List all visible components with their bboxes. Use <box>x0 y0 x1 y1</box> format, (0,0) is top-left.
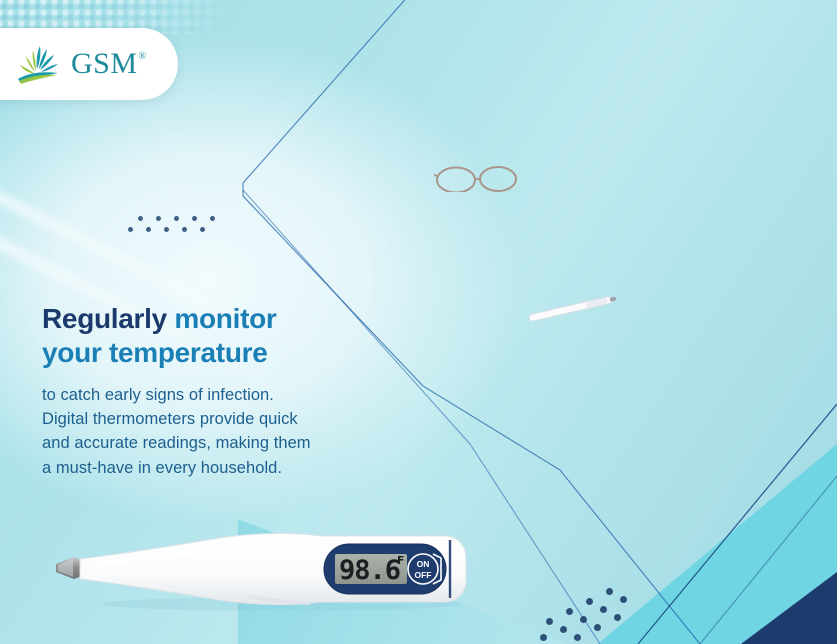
body-copy: to catch early signs of infection. Digit… <box>42 383 472 479</box>
thermometer-unit: F <box>397 554 405 567</box>
banner-canvas: GSM® Regularly monitoryour temperature t… <box>0 0 837 644</box>
thermometer-reading: 98.6 <box>339 555 400 586</box>
diagonal-dot-decoration <box>534 588 646 642</box>
headline-emphasis: Regularly <box>42 303 174 334</box>
handheld-thermometer-icon <box>525 290 618 326</box>
leaf-fan-logo-icon <box>14 42 62 86</box>
body-line: to catch early signs of infection. <box>42 383 472 407</box>
power-label-off: OFF <box>415 570 432 580</box>
digital-thermometer-icon: 98.6 F ON OFF <box>52 524 472 616</box>
brand-name-text: GSM <box>71 47 138 80</box>
body-line: Digital thermometers provide quick <box>42 407 472 431</box>
brand-logo[interactable]: GSM® <box>0 28 178 100</box>
power-label-on: ON <box>417 559 430 569</box>
eyeglasses-icon <box>434 166 520 192</box>
headline-part-1: monitor <box>174 303 276 334</box>
body-line: a must-have in every household. <box>42 456 472 480</box>
brand-name: GSM® <box>71 49 146 79</box>
copy-block: Regularly monitoryour temperature to cat… <box>42 302 472 480</box>
body-line: and accurate readings, making them <box>42 431 472 455</box>
page-title: Regularly monitoryour temperature <box>42 302 472 370</box>
wall-picture-frame <box>266 8 330 82</box>
registered-mark: ® <box>139 51 147 62</box>
dot-grid-decoration <box>124 214 210 236</box>
headline-part-2: your temperature <box>42 337 268 368</box>
